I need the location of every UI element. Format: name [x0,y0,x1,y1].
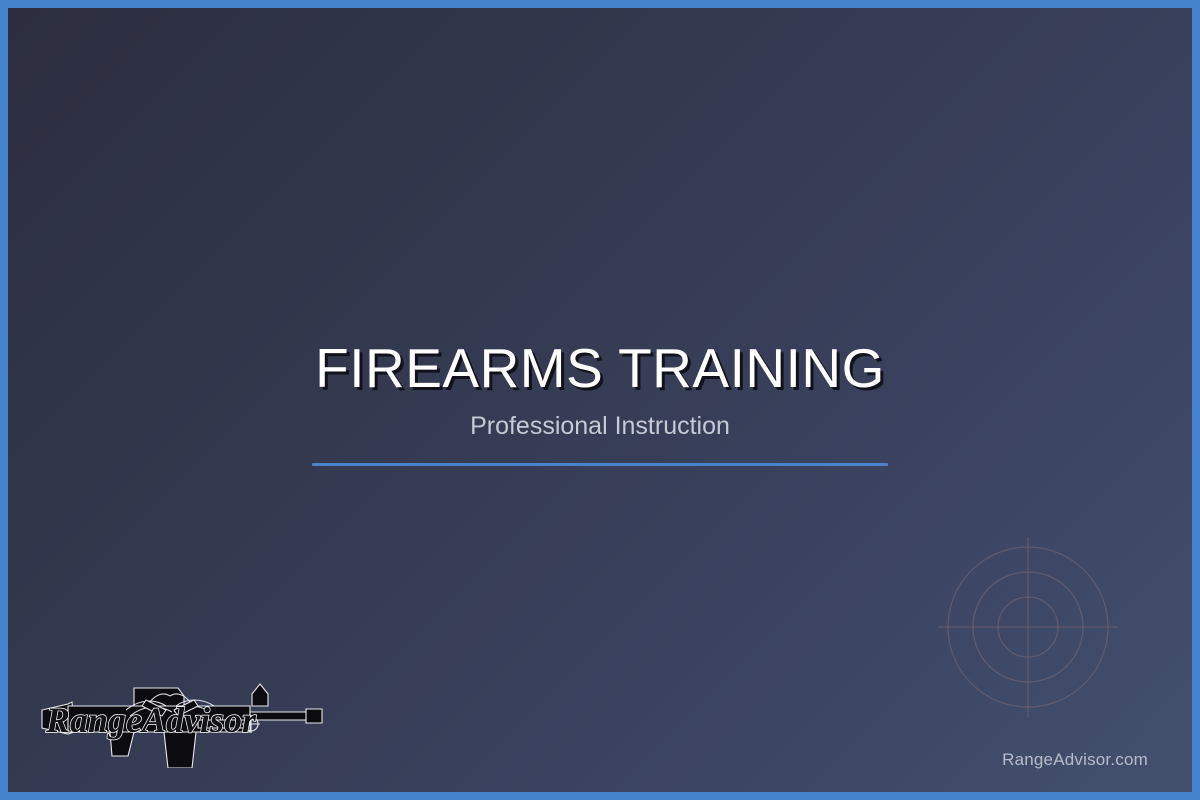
title-block: FIREARMS TRAINING Professional Instructi… [8,338,1192,466]
brand-logo-wordmark: RangeAdvisor [45,700,257,740]
page-subtitle: Professional Instruction [8,412,1192,441]
footer-url: RangeAdvisor.com [1002,750,1148,770]
accent-divider [312,463,888,466]
page-title: FIREARMS TRAINING [8,338,1192,398]
brand-logo: RangeAdvisor [38,676,328,768]
presentation-slide: FIREARMS TRAINING Professional Instructi… [0,0,1200,800]
